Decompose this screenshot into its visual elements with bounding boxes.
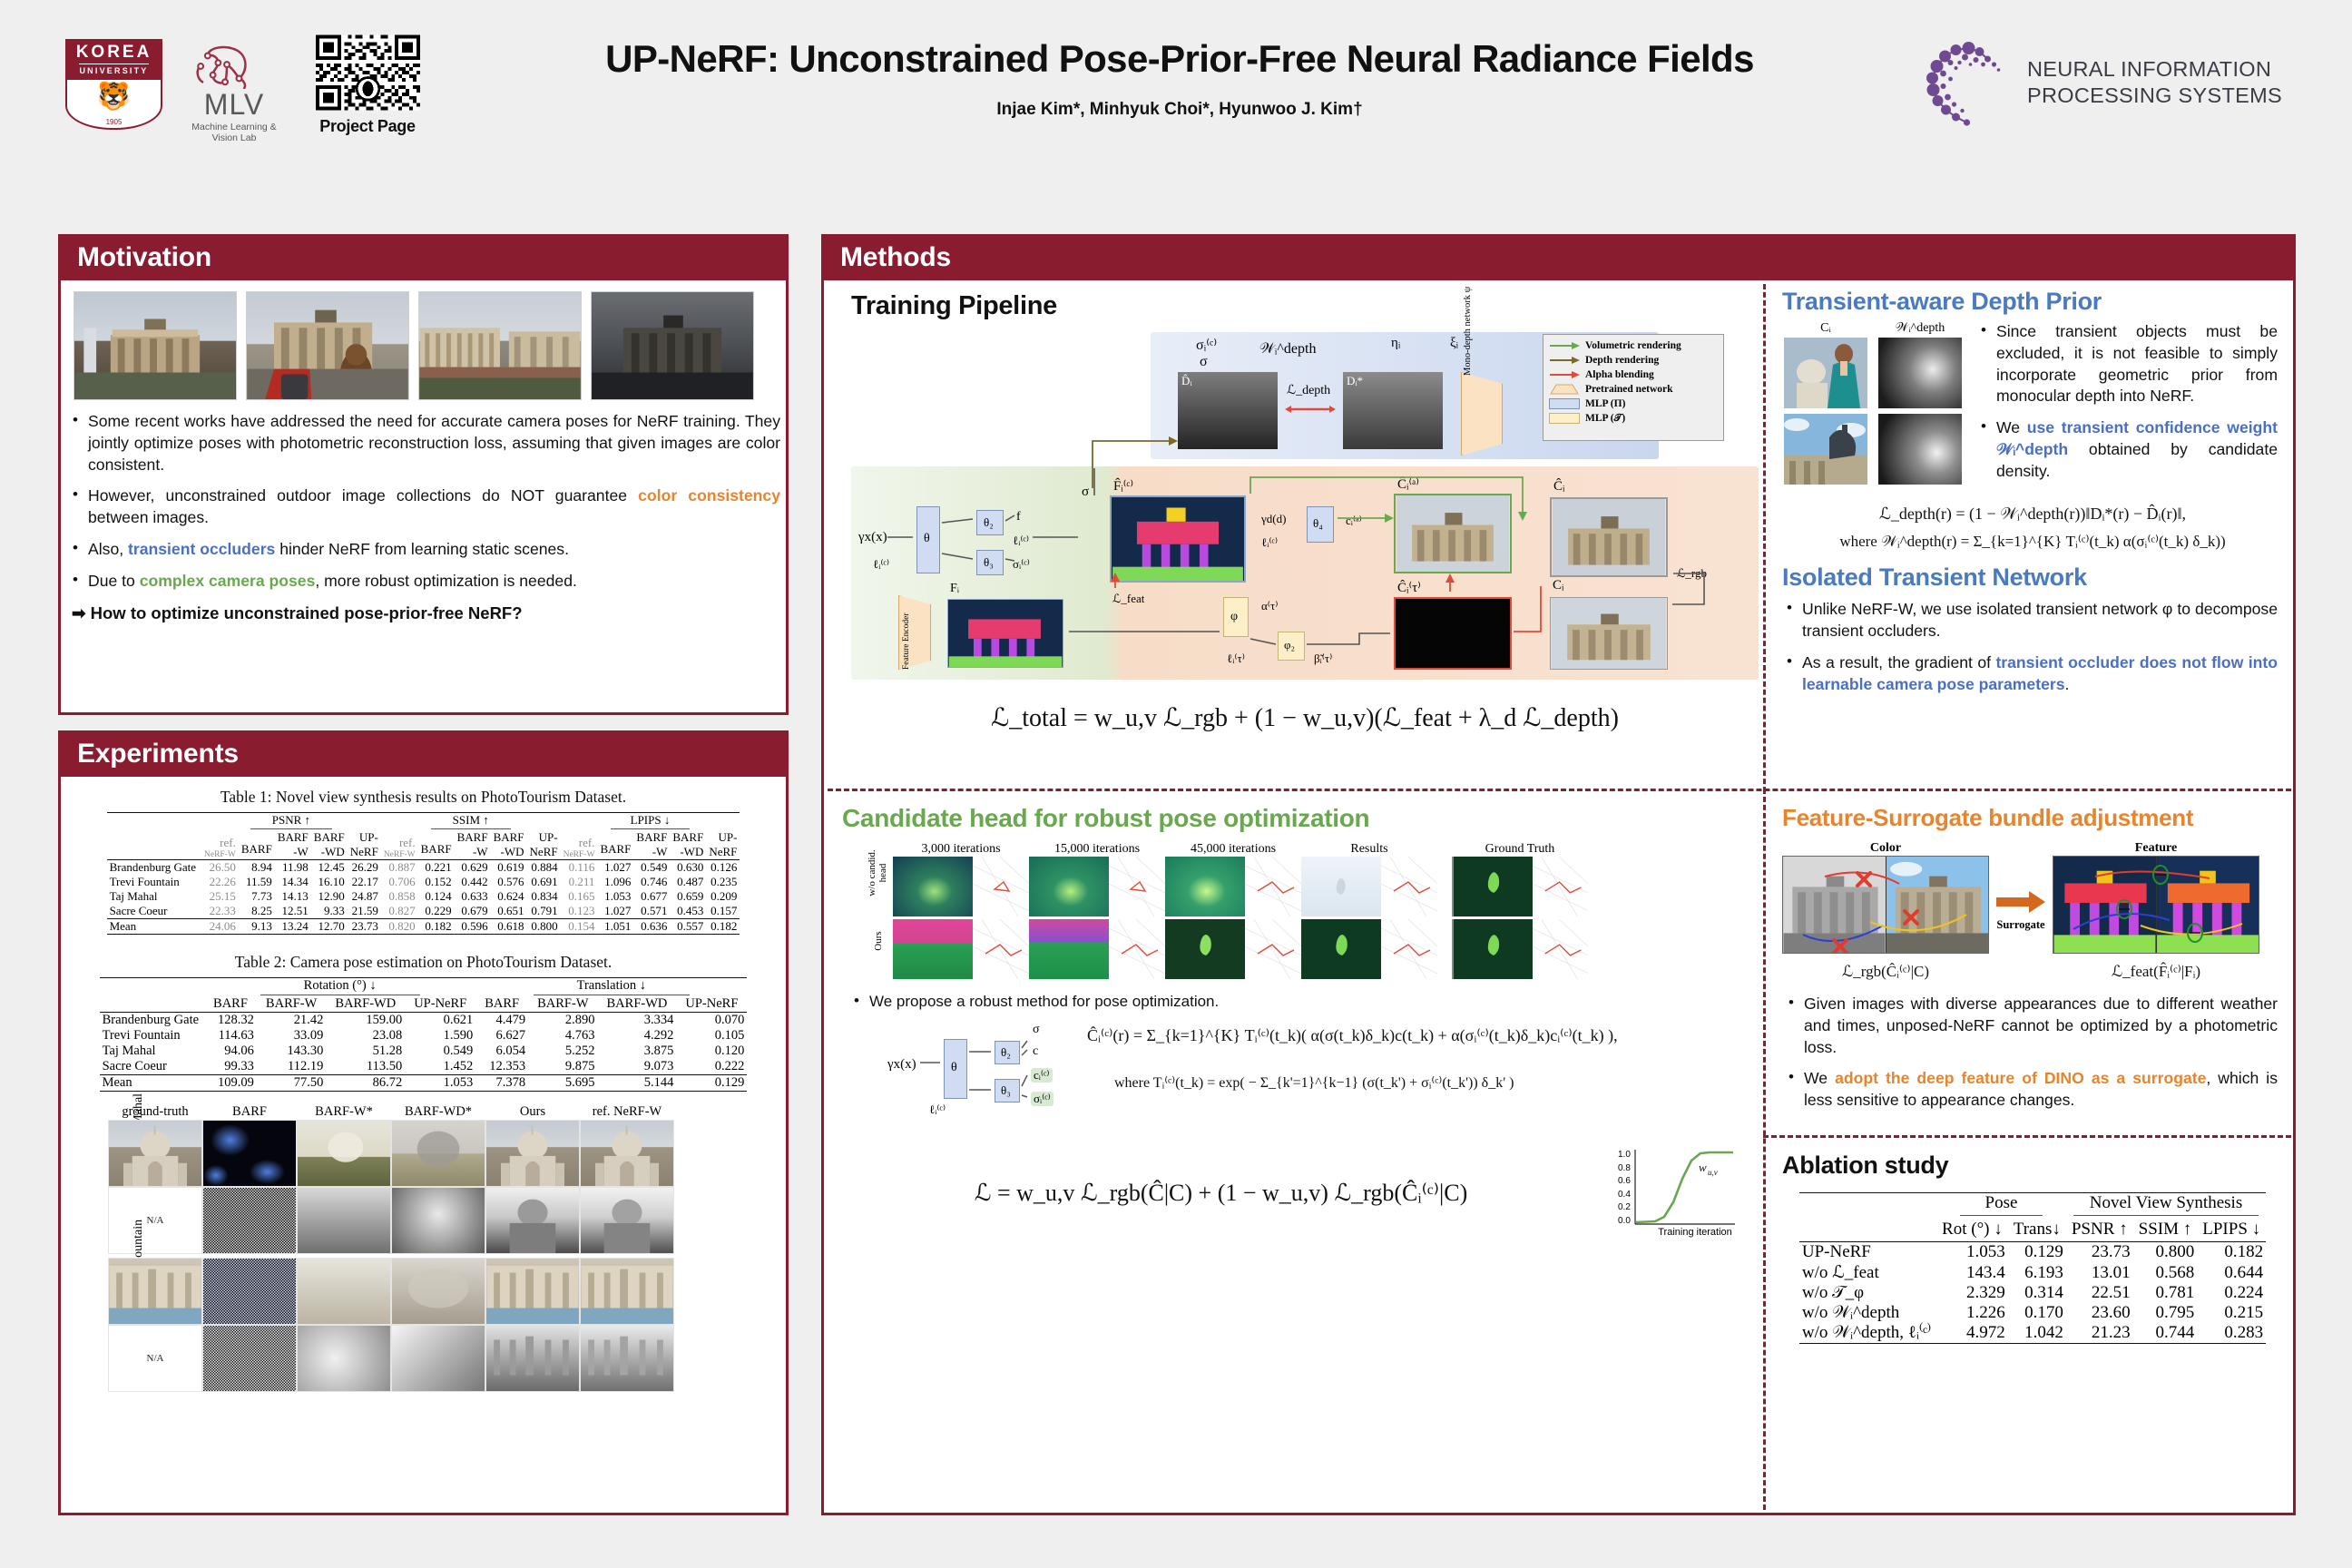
depth-prior-block: Transient-aware Depth Prior Cᵢ 𝒲ᵢ^depth: [1782, 288, 2283, 705]
cell: 21.42: [257, 1013, 326, 1029]
candidate-head-row-ours: Ours: [893, 919, 1754, 979]
cell: 13.01: [2066, 1262, 2133, 1283]
row-scene: Trevi Fountain: [100, 1028, 204, 1044]
ytick-5: 0.0: [1618, 1216, 1631, 1226]
qual-cell-trevi-ours: [485, 1258, 580, 1325]
feature-surrogate-title: Feature-Surrogate bundle adjustment: [1782, 804, 2283, 832]
cell: 3.334: [598, 1013, 677, 1029]
cell: 4.292: [598, 1028, 677, 1044]
ablation-block: Ablation study Pose Novel View Synthesis…: [1782, 1151, 2283, 1344]
ytick-3: 0.4: [1618, 1190, 1631, 1200]
cell: 1.226: [1936, 1303, 2008, 1323]
image-d-star: Dᵢ*: [1343, 372, 1443, 449]
transient-net-bullets: Unlike NeRF-W, we use isolated transient…: [1782, 599, 2283, 695]
cell: 77.50: [257, 1075, 326, 1092]
qual-cell-taj-depth-ours: [485, 1187, 580, 1254]
depth-equation-2: where 𝒲ᵢ^depth(r) = Σ_{k=1}^{K} Tᵢ⁽ᶜ⁾(t_…: [1782, 533, 2283, 551]
ch-cell-1-1: [1029, 919, 1165, 979]
th-ref: ref.: [384, 836, 416, 850]
row-scene: Sacre Coeur: [107, 904, 201, 919]
cell: 12.45: [311, 860, 348, 876]
label-c-hat-a: Ĉᵢ⁽ᵃ⁾: [1397, 475, 1419, 493]
divider-vertical-bottom: [1763, 789, 1766, 1510]
highlight-dino-surrogate: adopt the deep feature of DINO as a surr…: [1835, 1069, 2206, 1087]
cell: 143.4: [1936, 1262, 2008, 1283]
label-loss-rgb: ℒ_rgb: [1677, 566, 1707, 581]
ch-cell-1-0: [893, 919, 1029, 979]
th-upnerf: UP-NeRF: [405, 996, 475, 1013]
ch-col-1: 15,000 iterations: [1029, 842, 1165, 857]
cell: 0.746: [633, 875, 670, 889]
cell: 12.353: [475, 1059, 528, 1075]
cell: 1.051: [597, 919, 633, 935]
candidate-head-bullet: We propose a robust method for pose opti…: [869, 992, 1749, 1013]
image-taj-wdepth: [1878, 338, 1962, 408]
cell: 6.193: [2008, 1262, 2066, 1283]
candidate-head-row-wo: w/o candid. head: [893, 857, 1754, 916]
cell: 0.800: [2133, 1242, 2198, 1263]
bullet-text-tail: hinder NeRF from learning static scenes.: [275, 540, 569, 558]
cell: 1.590: [405, 1028, 475, 1044]
bullet-text: Since transient objects must be excluded…: [1996, 322, 2278, 405]
th-barf: BARF: [600, 842, 631, 856]
cell: 0.549: [633, 860, 670, 876]
cell: 0.644: [2197, 1262, 2266, 1283]
cell: 7.378: [475, 1075, 528, 1092]
cell: 8.25: [239, 904, 275, 919]
cell: 109.09: [204, 1075, 257, 1092]
red-arrow-icon: [1549, 369, 1580, 380]
candidate-head-grid: 3,000 iterations 15,000 iterations 45,00…: [842, 842, 1754, 979]
yellow-box-icon: [1549, 413, 1580, 424]
arrow-depth-loss: [1285, 403, 1336, 416]
ablation-col-ssim: SSIM ↑: [2133, 1218, 2198, 1242]
th-barfw-2: -W: [636, 845, 667, 859]
bullet-text: Some recent works have addressed the nee…: [88, 412, 780, 474]
cell: 0.618: [491, 919, 527, 935]
th-barfw-1: BARF: [636, 830, 667, 845]
cell: 0.209: [706, 889, 740, 904]
image-brandenburg-wdepth: [1878, 414, 1962, 485]
cell: 4.763: [528, 1028, 597, 1044]
label-xi: ξᵢ: [1450, 336, 1458, 351]
cell: 0.858: [381, 889, 418, 904]
green-arrow-icon: [1549, 340, 1580, 351]
feature-surrogate-block: Feature-Surrogate bundle adjustment Colo…: [1782, 804, 2283, 1122]
cell: 51.28: [326, 1044, 405, 1059]
cell: 0.229: [418, 904, 455, 919]
cell: 143.30: [257, 1044, 326, 1059]
th-barfw: BARF-W: [528, 996, 597, 1013]
mlv-neuron-icon: [181, 44, 286, 89]
cell: 0.126: [706, 860, 740, 876]
cell: 14.13: [275, 889, 311, 904]
qual-col-4: Ours: [485, 1104, 580, 1120]
ch-cell-0-0: [893, 857, 1029, 916]
table2-group-translation: Translation ↓: [534, 978, 690, 995]
qr-code-icon[interactable]: [316, 34, 420, 111]
th-barfw-2: -W: [278, 845, 309, 859]
cell: 0.549: [405, 1044, 475, 1059]
th-upnerf-1: UP-: [350, 830, 378, 845]
th-refsub: NeRF-W: [204, 850, 236, 859]
ch-cell-0-3: [1301, 857, 1437, 916]
image-c-i: Cᵢ: [1550, 597, 1668, 670]
feature-surrogate-bullets: Given images with diverse appearances du…: [1782, 994, 2283, 1112]
cell: 4.479: [475, 1013, 528, 1029]
cell: 24.06: [201, 919, 239, 935]
table-row: w/o 𝒲ᵢ^depth 1.226 0.170 23.60 0.795 0.2…: [1799, 1303, 2266, 1323]
th-upnerf-2: NeRF: [350, 845, 378, 859]
cell: 0.165: [561, 889, 598, 904]
cell: 0.820: [381, 919, 418, 935]
th-barfwd-2: -WD: [314, 845, 345, 859]
qual-cell-taj-depth-nerfw: [580, 1187, 674, 1254]
label-theta: θ: [924, 532, 930, 546]
cell: 0.621: [405, 1013, 475, 1029]
qual-cell-taj-depth-barfwd: [391, 1187, 485, 1254]
th-barfw-1: BARF: [278, 830, 309, 845]
cell: 0.221: [418, 860, 455, 876]
bullet-text-tail: between images.: [88, 508, 209, 526]
th-upnerf-2: NeRF: [709, 845, 737, 859]
qual-cell-taj-nerfw: [580, 1120, 674, 1187]
ch-cell-gt-0: [1452, 857, 1588, 916]
label-f-hat: F̂ᵢ⁽ᶜ⁾: [1113, 477, 1133, 495]
candidate-head-columns: 3,000 iterations 15,000 iterations 45,00…: [893, 842, 1754, 857]
qual-cell-taj-barf: [202, 1120, 297, 1187]
depth-prior-bullets: Since transient objects must be excluded…: [1976, 321, 2283, 492]
legend-item-depth: Depth rendering: [1549, 353, 1718, 367]
cell: 0.800: [527, 919, 561, 935]
cell: 0.744: [2133, 1323, 2198, 1344]
total-loss-equation: ℒ_total = w_u,v ℒ_rgb + (1 − w_u,v)(ℒ_fe…: [851, 702, 1759, 733]
cell: 21.23: [2066, 1323, 2133, 1344]
label-c-hat-tau: Ĉᵢ⁽τ⁾: [1397, 579, 1421, 596]
cell: 9.073: [598, 1059, 677, 1075]
transient-net-bullet-0: Unlike NeRF-W, we use isolated transient…: [1802, 599, 2278, 642]
cell: 26.50: [201, 860, 239, 876]
cell: 0.154: [561, 919, 598, 935]
legend-label: Volumetric rendering: [1585, 340, 1681, 351]
highlight-color-consistency: color consistency: [638, 486, 780, 505]
label-alpha-tau: α⁽τ⁾: [1261, 599, 1278, 613]
label-phi: φ: [1230, 610, 1238, 624]
qual-row-taj-rgb: Taj-Mahal: [108, 1120, 777, 1187]
th-barfwd-1: BARF: [494, 830, 524, 845]
experiments-heading: Experiments: [61, 733, 786, 777]
cell: 0.070: [676, 1013, 747, 1029]
table-row: Trevi Fountain 114.63 33.09 23.08 1.590 …: [100, 1028, 748, 1044]
ablation-col-trans: Trans↓: [2008, 1218, 2066, 1242]
label-eta: ηᵢ: [1391, 336, 1400, 351]
cell: 1.027: [597, 860, 633, 876]
neurips-swirl-icon: [1921, 37, 2016, 128]
qual-cell-taj-barfwd: [391, 1120, 485, 1187]
cell: 2.890: [528, 1013, 597, 1029]
cell: 23.73: [2066, 1242, 2133, 1263]
cell: 0.170: [2008, 1303, 2066, 1323]
qual-cell-trevi-depth-ours: [485, 1325, 580, 1392]
label-c-a: cᵢ⁽ᵃ⁾: [1346, 514, 1362, 528]
project-page-qr[interactable]: Project Page: [313, 34, 422, 136]
label-theta3: θ₃: [984, 555, 994, 570]
label-gamma-x: γx(x): [858, 530, 887, 545]
label-phi2: φ₂: [1284, 638, 1295, 652]
table-ablation: Pose Novel View Synthesis Rot (°) ↓ Tran…: [1799, 1192, 2266, 1344]
cell: 159.00: [326, 1013, 405, 1029]
motivation-image-strip: [61, 280, 786, 406]
th-refsub: NeRF-W: [384, 850, 416, 859]
ytick-0: 1.0: [1618, 1150, 1631, 1160]
cell: 0.152: [418, 875, 455, 889]
eq-feat-loss: ℒ_feat(F̂ᵢ⁽ᶜ⁾|Fᵢ): [2053, 963, 2259, 981]
motivation-bullet-1: However, unconstrained outdoor image col…: [88, 485, 780, 529]
th-ref: ref.: [563, 836, 595, 850]
wuv-xlabel: Training iteration: [1636, 1227, 1754, 1238]
depth-prior-bullet-1: We use transient confidence weight 𝒲ᵢ^de…: [1996, 417, 2278, 482]
cell: 0.633: [455, 889, 491, 904]
cell: 12.70: [311, 919, 348, 935]
cell: 3.875: [598, 1044, 677, 1059]
th-barfw-2: -W: [457, 845, 488, 859]
table2-caption: Table 2: Camera pose estimation on Photo…: [70, 953, 777, 972]
th-barfw-1: BARF: [457, 830, 488, 845]
ku-shield-bottom: 🐯 1905: [65, 80, 162, 130]
legend-item-alpha: Alpha blending: [1549, 367, 1718, 382]
qual-cell-trevi-barfwd: [391, 1258, 485, 1325]
divider-vertical-top: [1763, 284, 1766, 792]
cell: 9.875: [528, 1059, 597, 1075]
qual-cell-trevi-depth-barf: [202, 1325, 297, 1392]
label-c-hat: Ĉᵢ: [1553, 479, 1564, 495]
ablation-row-name: w/o 𝒯_φ: [1799, 1283, 1936, 1303]
label-beta-tau: β̃ᵢ⁽τ⁾: [1314, 652, 1332, 666]
project-page-label: Project Page: [313, 117, 422, 136]
bullet-text-tail: .: [2064, 675, 2069, 693]
table-novel-view-synthesis: PSNR ↑ SSIM ↑ LPIPS ↓ ref.NeRF-W BARF BA…: [107, 812, 740, 935]
cell: 0.636: [633, 919, 670, 935]
title-block: UP-NeRF: Unconstrained Pose-Prior-Free N…: [436, 38, 1924, 120]
neurips-line-1: NEURAL INFORMATION: [2027, 56, 2282, 83]
legend-label: MLP (𝒯): [1585, 413, 1625, 425]
blue-box-icon: [1549, 398, 1580, 409]
cell: 22.26: [201, 875, 239, 889]
olive-arrow-icon: [1549, 355, 1580, 366]
ablation-title: Ablation study: [1782, 1151, 2283, 1180]
ch-cell-1-3: [1301, 919, 1437, 979]
table-row: BARF BARF-W BARF-WD UP-NeRF BARF BARF-W …: [100, 996, 748, 1013]
cell: 11.59: [239, 875, 275, 889]
label-theta2: θ₂: [984, 515, 994, 530]
cell: 0.224: [2197, 1283, 2266, 1303]
qual-row-trevi-depth: N/A: [108, 1325, 777, 1392]
cell: 0.129: [676, 1075, 747, 1092]
mlv-lab-logo: MLV Machine Learning & Vision Lab: [180, 44, 289, 130]
loss-and-plot-row: ℒ = w_u,v ℒ_rgb(Ĉ|C) + (1 − w_u,v) ℒ_rgb…: [842, 1150, 1754, 1238]
cell: 0.453: [670, 904, 706, 919]
qualitative-comparison-grid: ground-truth BARF BARF-W* BARF-WD* Ours …: [70, 1104, 777, 1392]
legend-item-volumetric: Volumetric rendering: [1549, 338, 1718, 353]
th-barf: BARF: [241, 842, 272, 856]
bullet-text: Given images with diverse appearances du…: [1804, 995, 2278, 1056]
svg-text:u,v: u,v: [1708, 1168, 1718, 1177]
cell: 16.10: [311, 875, 348, 889]
cell: 0.182: [418, 919, 455, 935]
cell: 0.222: [676, 1059, 747, 1075]
bullet-text: Also,: [88, 540, 128, 558]
motivation-heading: Motivation: [61, 237, 786, 280]
svg-text:w: w: [1699, 1161, 1707, 1174]
highlight-complex-camera-poses: complex camera poses: [140, 572, 316, 590]
qual-cell-taj-gt: [108, 1120, 202, 1187]
cell: 0.215: [2197, 1303, 2266, 1323]
table-row-mean: Mean 24.06 9.13 13.24 12.70 23.73 0.820 …: [107, 919, 740, 935]
label-c-i: Cᵢ: [1553, 578, 1563, 593]
divider-horizontal-ablation: [1763, 1135, 2291, 1138]
label-f-i: Fᵢ: [950, 582, 959, 596]
cell: 12.51: [275, 904, 311, 919]
cell: 22.51: [2066, 1283, 2133, 1303]
cell: 0.157: [706, 904, 740, 919]
experiments-panel: Experiments Table 1: Novel view synthesi…: [58, 730, 789, 1515]
ytick-4: 0.2: [1618, 1202, 1631, 1212]
cell: 0.834: [527, 889, 561, 904]
bullet-text: Unlike NeRF-W, we use isolated transient…: [1802, 600, 2278, 640]
pipeline-diagram: σᵢ⁽ᶜ⁾ σ 𝒲ᵢ^depth ηᵢ ξᵢ D̂ᵢ ℒ_depth Dᵢ*: [851, 332, 1759, 695]
motivation-bullet-0: Some recent works have addressed the nee…: [88, 411, 780, 475]
label-c-i-depth: Cᵢ: [1784, 321, 1867, 336]
th-upnerf-2: NeRF: [530, 845, 558, 859]
cell: 0.781: [2133, 1283, 2198, 1303]
cell: 0.182: [706, 919, 740, 935]
cell: 1.027: [597, 904, 633, 919]
label-ell-c: ℓᵢ⁽ᶜ⁾: [1013, 534, 1029, 548]
label-ell-c-in: ℓᵢ⁽ᶜ⁾: [873, 557, 889, 572]
table-row: Trevi Fountain 22.26 11.59 14.34 16.10 2…: [107, 875, 740, 889]
cell: 0.619: [491, 860, 527, 876]
feature-correspondences: [2053, 857, 2259, 954]
cell: 14.34: [275, 875, 311, 889]
tiger-icon: 🐯: [97, 83, 131, 111]
qual-cell-trevi-gt: [108, 1258, 202, 1325]
cell: 0.442: [455, 875, 491, 889]
qual-cell-trevi-depth-gt: N/A: [108, 1325, 202, 1392]
candidate-head-title: Candidate head for robust pose optimizat…: [842, 804, 1754, 833]
ch-col-2: 45,000 iterations: [1165, 842, 1301, 857]
eq-rgb-loss: ℒ_rgb(Ĉᵢ⁽ᶜ⁾|C): [1782, 963, 1989, 981]
table-row: w/o 𝒯_φ 2.329 0.314 22.51 0.781 0.224: [1799, 1283, 2266, 1303]
pipeline-legend: Volumetric rendering Depth rendering Alp…: [1543, 334, 1724, 441]
cell: 0.105: [676, 1028, 747, 1044]
cell: 8.94: [239, 860, 275, 876]
candidate-head-block: Candidate head for robust pose optimizat…: [842, 804, 1754, 1238]
cell: 5.695: [528, 1075, 597, 1092]
label-d-star: Dᵢ*: [1347, 374, 1363, 388]
label-loss-depth: ℒ_depth: [1287, 383, 1330, 398]
ch-col-3: Results: [1301, 842, 1437, 857]
row-scene: Brandenburg Gate: [107, 860, 201, 876]
candidate-head-bullets: We propose a robust method for pose opti…: [842, 992, 1754, 1013]
ch-row-label-wo: w/o candid. head: [867, 841, 888, 905]
cell: 0.568: [2133, 1262, 2198, 1283]
qual-cell-trevi-depth-barfwd: [391, 1325, 485, 1392]
th-barfw: BARF-W: [257, 996, 326, 1013]
motivation-bullets: Some recent works have addressed the nee…: [61, 411, 786, 592]
image-d-hat: D̂ᵢ: [1178, 372, 1278, 449]
mlv-caption: Machine Learning & Vision Lab: [180, 122, 289, 143]
ablation-col-rot: Rot (°) ↓: [1936, 1218, 2008, 1242]
transient-net-title: Isolated Transient Network: [1782, 563, 2283, 592]
methods-heading: Methods: [824, 237, 2293, 280]
motivation-panel: Motivation: [58, 234, 789, 715]
cell: 0.624: [491, 889, 527, 904]
neurips-wordmark: NEURAL INFORMATION PROCESSING SYSTEMS: [2027, 56, 2282, 108]
candidate-head-equation-main: Ĉᵢ⁽ᶜ⁾(r) = Σ_{k=1}^{K} Tᵢ⁽ᶜ⁾(t_k)( α(σ(t…: [1087, 1026, 1618, 1045]
table-row: UP-NeRF 1.053 0.129 23.73 0.800 0.182: [1799, 1242, 2266, 1263]
qual-cell-trevi-depth-barfw: [297, 1325, 391, 1392]
cell: 13.24: [275, 919, 311, 935]
table-row: w/o 𝒲ᵢ^depth, ℓᵢ⁽ᶜ⁾ 4.972 1.042 21.23 0.…: [1799, 1323, 2266, 1344]
table-row: Taj Mahal 25.15 7.73 14.13 12.90 24.87 0…: [107, 889, 740, 904]
legend-label: MLP (Π): [1585, 398, 1625, 409]
image-brandenburg-horse: [1784, 414, 1867, 485]
depth-equation-1: ℒ_depth(r) = (1 − 𝒲ᵢ^depth(r))‖Dᵢ*(r) − …: [1782, 505, 2283, 524]
candidate-head-equation-where: where Tᵢ⁽ᶜ⁾(t_k) = exp( − Σ_{k'=1}^{k−1}…: [1114, 1073, 1514, 1092]
legend-label: Pretrained network: [1585, 384, 1673, 395]
image-c-hat-a: Ĉᵢ⁽ᵃ⁾: [1394, 494, 1512, 573]
qual-cell-trevi-nerfw: [580, 1258, 674, 1325]
cell: 5.144: [598, 1075, 677, 1092]
cell: 99.33: [204, 1059, 257, 1075]
image-color-pair: [1782, 856, 1989, 954]
label-f: f: [1016, 510, 1021, 524]
table-row: ref.NeRF-W BARF BARF-W BARF-WD UP-NeRF r…: [107, 830, 740, 860]
qual-column-headers: ground-truth BARF BARF-W* BARF-WD* Ours …: [108, 1104, 777, 1120]
ytick-2: 0.6: [1618, 1176, 1631, 1186]
th-upnerf-1: UP-: [530, 830, 558, 845]
row-scene: Brandenburg Gate: [100, 1013, 204, 1029]
cell: 1.452: [405, 1059, 475, 1075]
image-c-hat-tau: Ĉᵢ⁽τ⁾: [1394, 597, 1512, 670]
cell: 114.63: [204, 1028, 257, 1044]
trapezoid-icon: [1549, 384, 1580, 395]
image-feature-pair: [2053, 856, 2259, 954]
transient-net-bullet-1: As a result, the gradient of transient o…: [1802, 652, 2278, 696]
table-row: w/o ℒ_feat 143.4 6.193 13.01 0.568 0.644: [1799, 1262, 2266, 1283]
cell: 0.887: [381, 860, 418, 876]
ch-cell-0-2: [1165, 857, 1301, 916]
image-f-i: Fᵢ: [947, 599, 1063, 668]
row-scene: Taj Mahal: [107, 889, 201, 904]
fs-bullet-1: We adopt the deep feature of DINO as a s…: [1804, 1068, 2278, 1112]
na-label: N/A: [147, 1353, 164, 1364]
bullet-text: We: [1804, 1069, 1835, 1087]
ytick-1: 0.8: [1618, 1163, 1631, 1173]
th-barf: BARF: [421, 842, 452, 856]
cell: 5.252: [528, 1044, 597, 1059]
label-gamma-d: γd(d): [1261, 512, 1286, 526]
cell: 9.13: [239, 919, 275, 935]
cell: 0.123: [561, 904, 598, 919]
motivation-image-1: [246, 291, 409, 400]
th-barf: BARF: [475, 996, 528, 1013]
cell: 1.053: [1936, 1242, 2008, 1263]
cell: 6.054: [475, 1044, 528, 1059]
qual-col-1: BARF: [202, 1104, 297, 1120]
cell: 0.884: [527, 860, 561, 876]
korea-university-logo: KOREA UNIVERSITY 🐯 1905: [65, 39, 162, 130]
